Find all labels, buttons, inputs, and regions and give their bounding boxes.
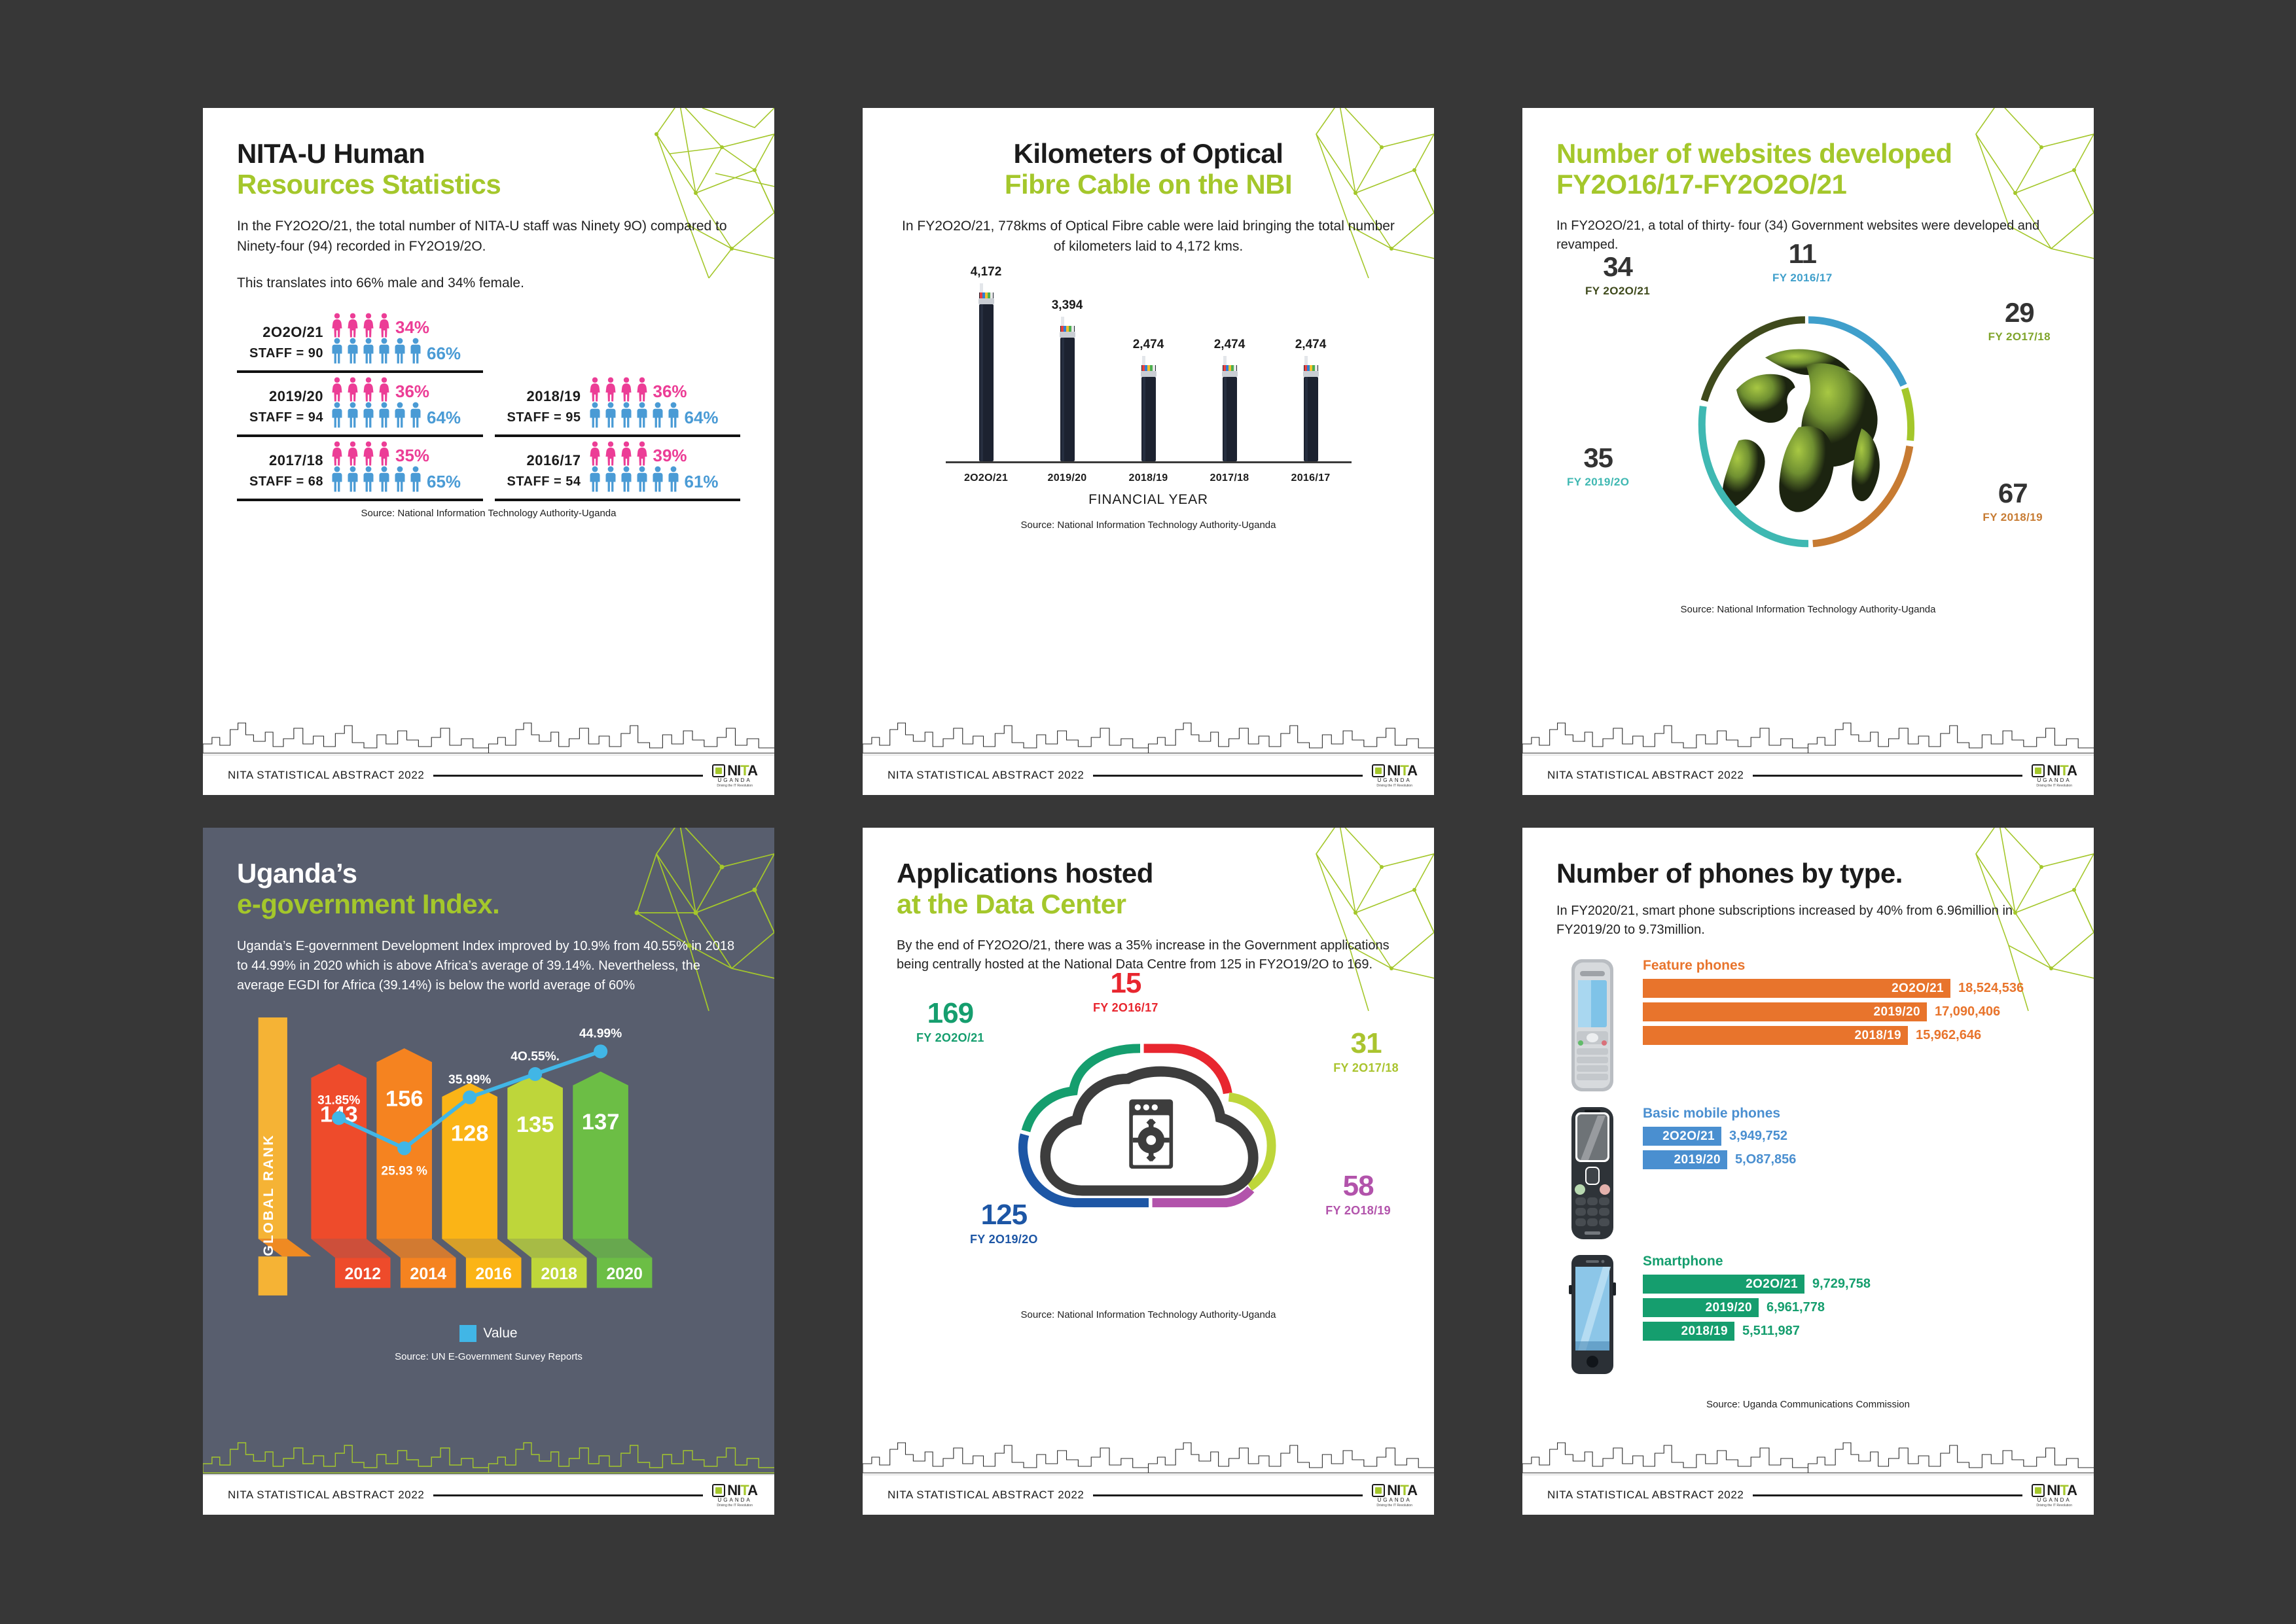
page-title: Number of phones by type. xyxy=(1556,858,2060,889)
hr-male-pct: 64% xyxy=(685,408,719,428)
bar-value-label: 156 xyxy=(386,1087,423,1112)
ring-seg-fy2017-18 xyxy=(1905,389,1910,441)
x-tick-label: 2016/17 xyxy=(1281,472,1341,484)
phone-bar-value: 5,O87,856 xyxy=(1735,1152,1796,1167)
phone-bar-row: 2019/20 6,961,778 xyxy=(1643,1298,2060,1317)
bar-value-label: 4,172 xyxy=(971,265,1002,279)
logo-mark-icon xyxy=(1372,1484,1385,1497)
title-line-2: Resources Statistics xyxy=(237,169,740,200)
bar-category-label: 2018 xyxy=(541,1265,577,1283)
hr-row: 2O2O/21 STAFF = 90 34% 66% xyxy=(237,309,483,373)
phone-category-label: Smartphone xyxy=(1643,1254,2060,1269)
hr-male-line: 61% xyxy=(588,466,741,492)
skyline-decoration-icon xyxy=(203,1435,774,1474)
footer-text: NITA STATISTICAL ABSTRACT 2022 xyxy=(228,1489,424,1502)
hr-male-line: 64% xyxy=(330,402,483,428)
fibre-cable-icon xyxy=(1140,356,1157,461)
phone-group-2: Smartphone 2O2O/21 9,729,758 2019/20 6,9… xyxy=(1556,1252,2060,1377)
cloud-label-fy2018-19: 58 FY 2O18/19 xyxy=(1325,1172,1391,1218)
hr-female-line: 34% xyxy=(330,313,483,338)
hr-staff-count: STAFF = 68 xyxy=(237,474,323,489)
bar-value-label: 3,394 xyxy=(1052,298,1083,313)
male-icon xyxy=(619,402,634,428)
panel-fibre-cable: Kilometers of Optical Fibre Cable on the… xyxy=(863,108,1434,795)
logo-mark-icon xyxy=(2032,1484,2045,1497)
phone-bar: 2O2O/21 xyxy=(1643,1127,1721,1146)
source-note: Source: National Information Technology … xyxy=(897,1309,1400,1320)
fibre-bar-group: 2,474 xyxy=(1200,338,1260,461)
x-axis-label: FINANCIAL YEAR xyxy=(897,492,1400,508)
logo-subtitle: UGANDA xyxy=(718,778,752,783)
fibre-chart: 4,172 3,394 2,47 xyxy=(897,268,1400,491)
skyline-decoration-icon xyxy=(863,715,1434,754)
hr-female-pct: 34% xyxy=(395,317,429,338)
panel-body: Uganda’s e-government Index. Uganda’s E-… xyxy=(203,828,774,1435)
logo-mark-icon xyxy=(2032,764,2045,777)
female-icon xyxy=(588,377,602,402)
female-icon xyxy=(603,377,618,402)
female-icon xyxy=(603,441,618,466)
phones-chart: Feature phones 2O2O/21 18,524,536 2019/2… xyxy=(1556,957,2060,1377)
male-icon xyxy=(666,466,681,492)
female-icon xyxy=(346,441,360,466)
cloud-label-fy2017-18: 31 FY 2O17/18 xyxy=(1333,1029,1399,1075)
ring-value: 34 xyxy=(1585,253,1650,281)
panel-websites-developed: Number of websites developed FY2O16/17-F… xyxy=(1522,108,2094,795)
female-icon xyxy=(330,313,344,338)
panel-footer: NITA STATISTICAL ABSTRACT 2022 NITA UGAN… xyxy=(863,754,1434,795)
logo-tagline: Driving the IT Revolution xyxy=(717,1504,753,1508)
phone-bar-value: 17,090,406 xyxy=(1935,1004,2000,1019)
footer-rule xyxy=(1753,1494,2022,1496)
egov-line-value-label: 31.85% xyxy=(317,1094,360,1108)
panel-body: Number of websites developed FY2O16/17-F… xyxy=(1522,108,2094,715)
hr-female-pct: 36% xyxy=(395,381,429,402)
infographic-board: NITA-U Human Resources Statistics In the… xyxy=(0,0,2296,1624)
hr-staff-count: STAFF = 54 xyxy=(495,474,581,489)
hr-year: 2019/20 xyxy=(237,388,323,405)
phone-bar-year: 2019/20 xyxy=(1706,1301,1752,1315)
footer-rule xyxy=(1093,1494,1363,1496)
ring-year: FY 2O17/18 xyxy=(1988,330,2051,344)
male-icon xyxy=(330,402,344,428)
female-icon xyxy=(330,441,344,466)
bar-value-label: 137 xyxy=(582,1110,620,1135)
cloud-seg-fy2020-21 xyxy=(1026,1048,1140,1131)
cloud-year: FY 2O16/17 xyxy=(1093,1001,1158,1015)
ring-year: FY 2016/17 xyxy=(1772,272,1833,285)
cloud-year: FY 2O18/19 xyxy=(1325,1204,1391,1218)
page-title: NITA-U Human Resources Statistics xyxy=(237,138,740,200)
logo-name: NITA xyxy=(1387,1483,1417,1498)
phone-bar-row: 2019/20 17,090,406 xyxy=(1643,1002,2060,1021)
cloud-value: 15 xyxy=(1093,969,1158,998)
fibre-bar-group: 4,172 xyxy=(956,265,1016,461)
phone-bar-year: 2O2O/21 xyxy=(1746,1277,1798,1292)
bar-value-label: 135 xyxy=(516,1112,554,1137)
phone-bar-value: 15,962,646 xyxy=(1916,1028,1981,1043)
panel-body: Applications hosted at the Data Center B… xyxy=(863,828,1434,1435)
hr-year: 2017/18 xyxy=(237,452,323,469)
logo-name: NITA xyxy=(2047,764,2077,778)
title-line-2: Fibre Cable on the NBI xyxy=(897,169,1400,200)
logo-tagline: Driving the IT Revolution xyxy=(1376,785,1412,788)
bar-value-label: 2,474 xyxy=(1214,338,1246,352)
male-icon xyxy=(619,466,634,492)
panel-phones-by-type: Number of phones by type. In FY2020/21, … xyxy=(1522,828,2094,1515)
male-icon xyxy=(393,338,407,364)
hr-female-line: 36% xyxy=(330,377,483,402)
nita-logo: NITA UGANDA Driving the IT Revolution xyxy=(2032,764,2077,788)
female-icon xyxy=(635,377,649,402)
phone-bar-year: 2019/20 xyxy=(1674,1153,1721,1167)
skyline-decoration-icon xyxy=(1522,1435,2094,1474)
ring-value: 67 xyxy=(1982,480,2043,507)
title-line-1: Kilometers of Optical xyxy=(1014,138,1283,169)
phone-illustration xyxy=(1556,957,1628,1094)
cloud-value: 58 xyxy=(1325,1172,1391,1201)
male-icon xyxy=(635,466,649,492)
female-icon xyxy=(361,441,376,466)
page-title: Uganda’s e-government Index. xyxy=(237,858,740,919)
cloud-label-fy2016-17: 15 FY 2O16/17 xyxy=(1093,969,1158,1015)
logo-subtitle: UGANDA xyxy=(718,1498,752,1503)
phone-bar-value: 6,961,778 xyxy=(1767,1300,1825,1315)
male-icon xyxy=(588,402,602,428)
legend-label-value: Value xyxy=(483,1326,517,1341)
nita-logo: NITA UGANDA Driving the IT Revolution xyxy=(712,764,757,788)
legend-swatch-value xyxy=(459,1325,476,1342)
female-icon xyxy=(588,441,602,466)
footer-text: NITA STATISTICAL ABSTRACT 2022 xyxy=(1547,1489,1744,1502)
female-icon xyxy=(635,441,649,466)
phone-bar-row: 2O2O/21 9,729,758 xyxy=(1643,1275,2060,1294)
footer-text: NITA STATISTICAL ABSTRACT 2022 xyxy=(228,769,424,782)
hr-row: 2018/19 STAFF = 95 36% 64% xyxy=(495,373,741,437)
globe-ring-svg xyxy=(1664,283,1952,565)
cloud-ring-chart: 15 FY 2O16/17 31 FY 2O17/18 58 FY 2O18/1… xyxy=(897,976,1400,1303)
hr-row: 2017/18 STAFF = 68 35% 65% xyxy=(237,437,483,501)
phone-bar: 2019/20 xyxy=(1643,1298,1759,1317)
skyline-decoration-icon xyxy=(203,715,774,754)
global-rank-column: GLOBAL RANK xyxy=(259,1017,312,1296)
phone-bar: 2018/19 xyxy=(1643,1322,1734,1341)
phone-bar-year: 2018/19 xyxy=(1681,1324,1728,1339)
egov-line-point xyxy=(463,1091,476,1104)
hr-row: 2019/20 STAFF = 94 36% 64% xyxy=(237,373,483,437)
logo-name: NITA xyxy=(1387,764,1417,778)
panel-footer: NITA STATISTICAL ABSTRACT 2022 NITA UGAN… xyxy=(863,1474,1434,1515)
title-line-2: at the Data Center xyxy=(897,889,1400,919)
panel-body: Kilometers of Optical Fibre Cable on the… xyxy=(863,108,1434,715)
lede-paragraph-2: This translates into 66% male and 34% fe… xyxy=(237,274,740,293)
phone-bar: 2O2O/21 xyxy=(1643,979,1950,998)
female-icon xyxy=(361,377,376,402)
bar-category-label: 2014 xyxy=(410,1265,446,1283)
phone-bar-row: 2O2O/21 3,949,752 xyxy=(1643,1127,2060,1146)
phone-bar-year: 2018/19 xyxy=(1855,1029,1901,1043)
page-title: Kilometers of Optical Fibre Cable on the… xyxy=(897,138,1400,200)
phone-bar-row: 2O2O/21 18,524,536 xyxy=(1643,979,2060,998)
ring-value: 29 xyxy=(1988,299,2051,327)
panel-footer: NITA STATISTICAL ABSTRACT 2022 NITA UGAN… xyxy=(1522,754,2094,795)
hr-male-line: 65% xyxy=(330,466,483,492)
male-icon xyxy=(408,338,423,364)
phone-illustration xyxy=(1556,1252,1628,1377)
fibre-cable-icon xyxy=(1059,317,1076,461)
page-title: Applications hosted at the Data Center xyxy=(897,858,1400,919)
male-icon xyxy=(588,466,602,492)
nita-logo: NITA UGANDA Driving the IT Revolution xyxy=(1372,764,1417,788)
hr-female-pct: 39% xyxy=(653,446,687,466)
footer-text: NITA STATISTICAL ABSTRACT 2022 xyxy=(1547,769,1744,782)
cloud-year: FY 2O19/2O xyxy=(970,1233,1038,1246)
egov-chart: GLOBAL RANK 2012 143 2014 156 2016 128 2… xyxy=(237,1003,740,1324)
basic-mobile-phone-icon xyxy=(1562,1104,1623,1242)
phone-bar: 2019/20 xyxy=(1643,1150,1727,1169)
phone-bar-value: 3,949,752 xyxy=(1729,1129,1787,1144)
male-icon xyxy=(330,338,344,364)
lede-paragraph: In FY2020/21, smart phone subscriptions … xyxy=(1556,902,2060,940)
hr-row: 2016/17 STAFF = 54 39% 61% xyxy=(495,437,741,501)
hr-staff-count: STAFF = 90 xyxy=(237,346,323,361)
egov-line-value-label: 44.99% xyxy=(579,1027,622,1041)
ring-label-fy2018-19: 67 FY 2018/19 xyxy=(1982,480,2043,524)
footer-rule xyxy=(433,775,703,777)
egov-line-point xyxy=(528,1067,542,1081)
male-icon xyxy=(361,402,376,428)
hr-female-line: 39% xyxy=(588,441,741,466)
skyline-decoration-icon xyxy=(863,1435,1434,1474)
phone-bar-row: 2019/20 5,O87,856 xyxy=(1643,1150,2060,1169)
bar-value-label: 2,474 xyxy=(1133,338,1164,352)
ring-year: FY 2019/2O xyxy=(1567,476,1629,489)
fibre-bar-group: 2,474 xyxy=(1119,338,1179,461)
phone-bar-value: 18,524,536 xyxy=(1958,981,2024,996)
phone-bar-year: 2O2O/21 xyxy=(1892,981,1944,996)
phone-bar-value: 5,511,987 xyxy=(1742,1324,1800,1339)
cloud-value: 169 xyxy=(916,999,984,1028)
chart-legend: Value xyxy=(237,1325,740,1342)
x-axis-line xyxy=(946,461,1352,463)
hr-female-pct: 35% xyxy=(395,446,429,466)
male-icon xyxy=(603,402,618,428)
female-icon xyxy=(619,377,634,402)
male-icon xyxy=(635,402,649,428)
lede-paragraph: Uganda’s E-government Development Index … xyxy=(237,936,740,995)
phone-group-0: Feature phones 2O2O/21 18,524,536 2019/2… xyxy=(1556,957,2060,1094)
fibre-cable-icon xyxy=(1221,356,1238,461)
logo-mark-icon xyxy=(712,1484,725,1497)
ring-label-fy2019-20: 35 FY 2019/2O xyxy=(1567,444,1629,489)
source-note: Source: Uganda Communications Commission xyxy=(1556,1399,2060,1410)
title-line-1: NITA-U Human xyxy=(237,138,425,169)
cloud-label-fy2020-21: 169 FY 2O2O/21 xyxy=(916,999,984,1045)
feature-phone-icon xyxy=(1562,957,1623,1094)
x-axis-ticks: 2O2O/212019/202018/192017/182016/17 xyxy=(946,472,1352,484)
female-icon xyxy=(346,313,360,338)
male-icon xyxy=(377,338,391,364)
cloud-year: FY 2O17/18 xyxy=(1333,1061,1399,1075)
bar-category-label: 2020 xyxy=(606,1265,643,1283)
male-icon xyxy=(408,466,423,492)
egov-line-point xyxy=(594,1044,607,1058)
logo-mark-icon xyxy=(712,764,725,777)
male-icon xyxy=(346,402,360,428)
male-icon xyxy=(346,466,360,492)
fibre-bar-group: 3,394 xyxy=(1037,298,1098,461)
logo-name: NITA xyxy=(2047,1483,2077,1498)
phone-bar-year: 2019/20 xyxy=(1874,1005,1920,1019)
logo-subtitle: UGANDA xyxy=(1378,1498,1412,1503)
cloud-value: 125 xyxy=(970,1201,1038,1229)
hr-year: 2016/17 xyxy=(495,452,581,469)
cloud-value: 31 xyxy=(1333,1029,1399,1058)
lede-paragraph-1: In the FY2O2O/21, the total number of NI… xyxy=(237,217,740,256)
female-icon xyxy=(377,313,391,338)
phone-bar: 2O2O/21 xyxy=(1643,1275,1804,1294)
male-icon xyxy=(330,466,344,492)
egov-line-point xyxy=(397,1141,411,1155)
egov-bar-2020: 2020 137 xyxy=(573,1072,652,1288)
logo-subtitle: UGANDA xyxy=(2037,1498,2072,1503)
nita-logo: NITA UGANDA Driving the IT Revolution xyxy=(712,1483,757,1508)
footer-text: NITA STATISTICAL ABSTRACT 2022 xyxy=(888,1489,1084,1502)
hr-female-line: 35% xyxy=(330,441,483,466)
hr-male-pct: 65% xyxy=(427,472,461,492)
app-settings-icon xyxy=(1129,1099,1173,1169)
hr-male-pct: 61% xyxy=(685,472,719,492)
bar-category-label: 2016 xyxy=(475,1265,512,1283)
phone-illustration xyxy=(1556,1104,1628,1242)
title-line-1: Uganda’s xyxy=(237,858,357,889)
ring-year: FY 2O2O/21 xyxy=(1585,285,1650,298)
hr-female-line: 36% xyxy=(588,377,741,402)
footer-rule xyxy=(1093,775,1363,777)
x-tick-label: 2018/19 xyxy=(1119,472,1179,484)
skyline-decoration-icon xyxy=(1522,715,2094,754)
male-icon xyxy=(651,402,665,428)
bar-category-label: 2012 xyxy=(344,1265,381,1283)
footer-rule xyxy=(433,1494,703,1496)
fibre-bars: 4,172 3,394 2,47 xyxy=(946,265,1352,461)
egov-line-value-label: 25.93 % xyxy=(381,1164,427,1178)
cloud-year: FY 2O2O/21 xyxy=(916,1031,984,1045)
globe-ring-chart: 34 FY 2O2O/21 11 FY 2016/17 29 FY 2O17/1… xyxy=(1556,257,2060,597)
source-note: Source: UN E-Government Survey Reports xyxy=(237,1351,740,1362)
logo-subtitle: UGANDA xyxy=(2037,778,2072,783)
logo-mark-icon xyxy=(1372,764,1385,777)
panel-body: Number of phones by type. In FY2020/21, … xyxy=(1522,828,2094,1435)
phone-bar-row: 2018/19 15,962,646 xyxy=(1643,1026,2060,1045)
source-note: Source: National Information Technology … xyxy=(1556,604,2060,615)
panel-hr-statistics: NITA-U Human Resources Statistics In the… xyxy=(203,108,774,795)
hr-male-pct: 66% xyxy=(427,344,461,364)
x-tick-label: 2019/20 xyxy=(1037,472,1098,484)
phone-bar-year: 2O2O/21 xyxy=(1662,1129,1715,1144)
panel-footer: NITA STATISTICAL ABSTRACT 2022 NITA UGAN… xyxy=(203,1474,774,1515)
hr-year: 2O2O/21 xyxy=(237,324,323,341)
hr-staff-count: STAFF = 95 xyxy=(495,410,581,425)
egov-line-point xyxy=(332,1111,346,1125)
egov-chart-svg: GLOBAL RANK 2012 143 2014 156 2016 128 2… xyxy=(237,1003,740,1324)
title-line-1: Applications hosted xyxy=(897,858,1153,889)
x-tick-label: 2017/18 xyxy=(1200,472,1260,484)
egov-line-value-label: 4O.55%. xyxy=(511,1050,560,1063)
male-icon xyxy=(393,402,407,428)
nita-logo: NITA UGANDA Driving the IT Revolution xyxy=(2032,1483,2077,1508)
nita-logo: NITA UGANDA Driving the IT Revolution xyxy=(1372,1483,1417,1508)
female-icon xyxy=(346,377,360,402)
female-icon xyxy=(377,441,391,466)
male-icon xyxy=(393,466,407,492)
ring-label-fy2017-18: 29 FY 2O17/18 xyxy=(1988,299,2051,344)
source-note: Source: National Information Technology … xyxy=(237,508,740,519)
logo-name: NITA xyxy=(727,764,757,778)
phone-category-label: Feature phones xyxy=(1643,958,2060,974)
hr-female-pct: 36% xyxy=(653,381,687,402)
hr-pictogram-grid: 2O2O/21 STAFF = 90 34% 66% 2019/20 STAFF… xyxy=(237,309,740,501)
phone-group-1: Basic mobile phones 2O2O/21 3,949,752 20… xyxy=(1556,1104,2060,1242)
logo-tagline: Driving the IT Revolution xyxy=(717,785,753,788)
footer-text: NITA STATISTICAL ABSTRACT 2022 xyxy=(888,769,1084,782)
male-icon xyxy=(666,402,681,428)
cloud-label-fy2019-20: 125 FY 2O19/2O xyxy=(970,1201,1038,1246)
source-note: Source: National Information Technology … xyxy=(897,520,1400,531)
female-icon xyxy=(619,441,634,466)
footer-rule xyxy=(1753,775,2022,777)
male-icon xyxy=(408,402,423,428)
y-axis-title: GLOBAL RANK xyxy=(261,1133,276,1256)
x-tick-label: 2O2O/21 xyxy=(956,472,1016,484)
bar-value-label: 2,474 xyxy=(1295,338,1327,352)
hr-staff-count: STAFF = 94 xyxy=(237,410,323,425)
male-icon xyxy=(603,466,618,492)
phone-bar: 2018/19 xyxy=(1643,1026,1908,1045)
ring-year: FY 2018/19 xyxy=(1982,511,2043,524)
male-icon xyxy=(361,466,376,492)
smartphone-icon xyxy=(1562,1252,1623,1377)
lede-paragraph: In FY2O2O/21, 778kms of Optical Fibre ca… xyxy=(897,217,1400,256)
logo-tagline: Driving the IT Revolution xyxy=(2036,785,2072,788)
phone-category-label: Basic mobile phones xyxy=(1643,1106,2060,1121)
logo-name: NITA xyxy=(727,1483,757,1498)
bar-value-label: 128 xyxy=(451,1121,489,1146)
phone-bar-row: 2018/19 5,511,987 xyxy=(1643,1322,2060,1341)
ring-label-fy2016-17: 11 FY 2016/17 xyxy=(1772,240,1833,285)
panel-applications-hosted: Applications hosted at the Data Center B… xyxy=(863,828,1434,1515)
hr-male-line: 66% xyxy=(330,338,483,364)
ring-value: 11 xyxy=(1772,240,1833,268)
ring-value: 35 xyxy=(1567,444,1629,472)
phone-bar: 2019/20 xyxy=(1643,1002,1927,1021)
fibre-cable-icon xyxy=(1302,356,1319,461)
fibre-bar-group: 2,474 xyxy=(1281,338,1341,461)
ring-label-fy2020-21: 34 FY 2O2O/21 xyxy=(1585,253,1650,298)
female-icon xyxy=(361,313,376,338)
logo-tagline: Driving the IT Revolution xyxy=(2036,1504,2072,1508)
panel-egovernment-index: Uganda’s e-government Index. Uganda’s E-… xyxy=(203,828,774,1515)
title-line-2: e-government Index. xyxy=(237,889,740,919)
logo-tagline: Driving the IT Revolution xyxy=(1376,1504,1412,1508)
hr-male-pct: 64% xyxy=(427,408,461,428)
hr-year: 2018/19 xyxy=(495,388,581,405)
panel-footer: NITA STATISTICAL ABSTRACT 2022 NITA UGAN… xyxy=(203,754,774,795)
panel-body: NITA-U Human Resources Statistics In the… xyxy=(203,108,774,715)
male-icon xyxy=(346,338,360,364)
logo-subtitle: UGANDA xyxy=(1378,778,1412,783)
panel-footer: NITA STATISTICAL ABSTRACT 2022 NITA UGAN… xyxy=(1522,1474,2094,1515)
